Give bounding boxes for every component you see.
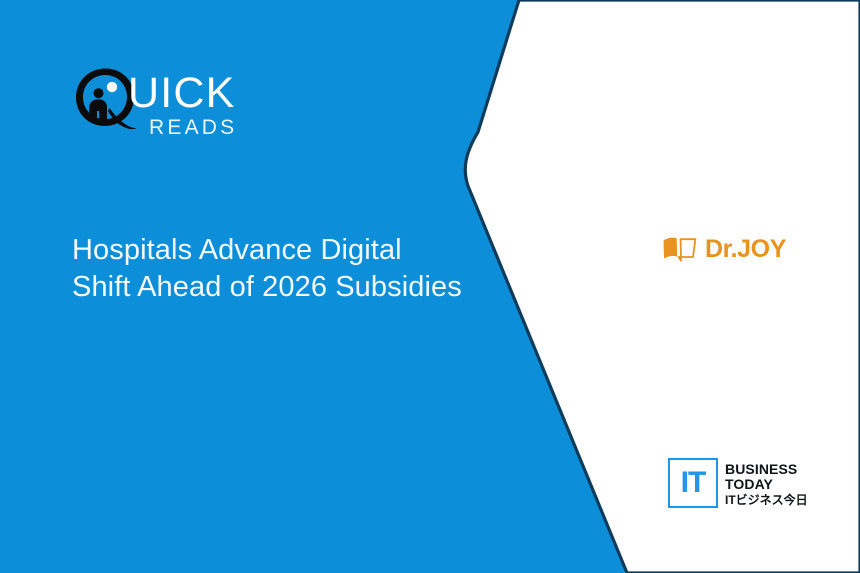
drjoy-logo: Dr.JOY xyxy=(662,236,786,263)
left-blue-panel: UICK READS Hospitals Advance Digital Shi… xyxy=(0,0,470,573)
quick-reads-news-card: UICK READS Hospitals Advance Digital Shi… xyxy=(0,0,860,573)
open-book-icon xyxy=(662,236,698,263)
it-badge: IT xyxy=(668,458,718,508)
brand-lockup: UICK READS xyxy=(72,66,332,148)
publisher-line-business: BUSINESS xyxy=(725,462,808,477)
drjoy-wordmark: Dr.JOY xyxy=(705,236,786,263)
it-business-today-logo: IT BUSINESS TODAY ITビジネス今日 xyxy=(668,458,808,508)
headline-text: Hospitals Advance Digital Shift Ahead of… xyxy=(72,232,464,306)
right-white-panel: Dr.JOY IT BUSINESS TODAY ITビジネス今日 xyxy=(470,0,860,573)
brand-subword: READS xyxy=(149,115,237,141)
it-badge-text: IT xyxy=(681,468,706,498)
publisher-textblock: BUSINESS TODAY ITビジネス今日 xyxy=(725,458,808,508)
publisher-line-today: TODAY xyxy=(725,477,808,492)
brand-wordmark: UICK xyxy=(128,68,236,118)
publisher-line-japanese: ITビジネス今日 xyxy=(725,493,808,508)
